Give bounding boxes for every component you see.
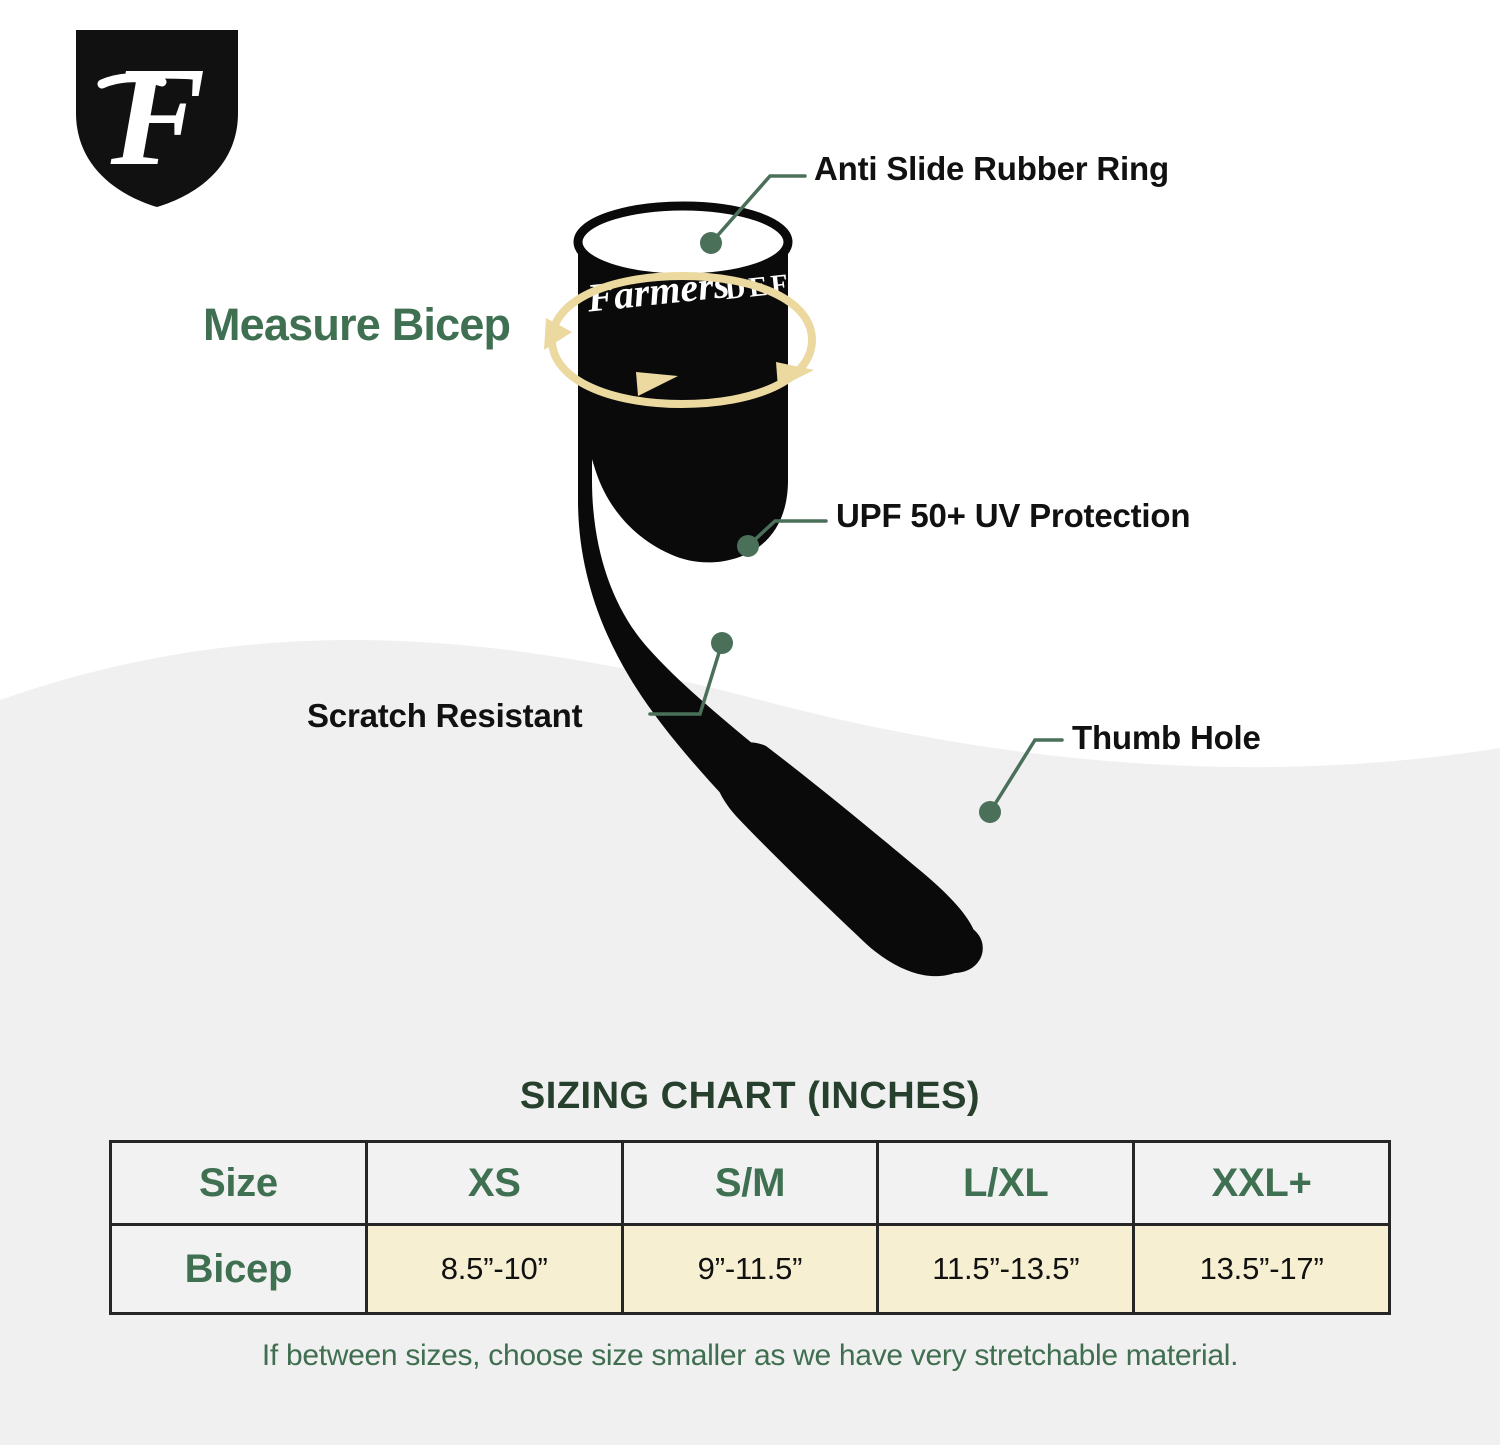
sizing-chart-note: If between sizes, choose size smaller as… [0,1339,1500,1373]
table-header-row: Size XS S/M L/XL XXL+ [111,1142,1390,1225]
sleeve-body [578,206,983,976]
table-cell-bicep-sm: 9”-11.5” [622,1225,878,1314]
table-header-xxl: XXL+ [1134,1142,1390,1225]
table-header-xs: XS [366,1142,622,1225]
brand-shield-logo-icon: F [62,18,252,218]
callout-label-scratch-resistant: Scratch Resistant [307,699,582,732]
callout-label-anti-slide-rubber-ring: Anti Slide Rubber Ring [814,152,1169,185]
svg-text:F: F [110,37,206,195]
callout-label-thumb-hole: Thumb Hole [1072,721,1261,754]
table-cell-bicep-xxl: 13.5”-17” [1134,1225,1390,1314]
table-row-label-bicep: Bicep [111,1225,367,1314]
table-header-sm: S/M [622,1142,878,1225]
callout-label-upf-uv-protection: UPF 50+ UV Protection [836,499,1190,532]
table-cell-bicep-xs: 8.5”-10” [366,1225,622,1314]
sizing-chart-title: SIZING CHART (INCHES) [0,1075,1500,1118]
table-cell-bicep-lxl: 11.5”-13.5” [878,1225,1134,1314]
callout-label-measure-bicep: Measure Bicep [203,302,510,347]
table-header-size: Size [111,1142,367,1225]
arm-sleeve-illustration: Farmers DEFENSE [530,180,1090,980]
table-row: Bicep 8.5”-10” 9”-11.5” 11.5”-13.5” 13.5… [111,1225,1390,1314]
thumb-hole-bump [924,921,983,973]
table-header-lxl: L/XL [878,1142,1134,1225]
sizing-chart-block: SIZING CHART (INCHES) Size XS S/M L/XL X… [0,1075,1500,1373]
sizing-chart-table: Size XS S/M L/XL XXL+ Bicep 8.5”-10” 9”-… [109,1140,1391,1315]
infographic-page: F Farmers DEFENSE [0,0,1500,1445]
